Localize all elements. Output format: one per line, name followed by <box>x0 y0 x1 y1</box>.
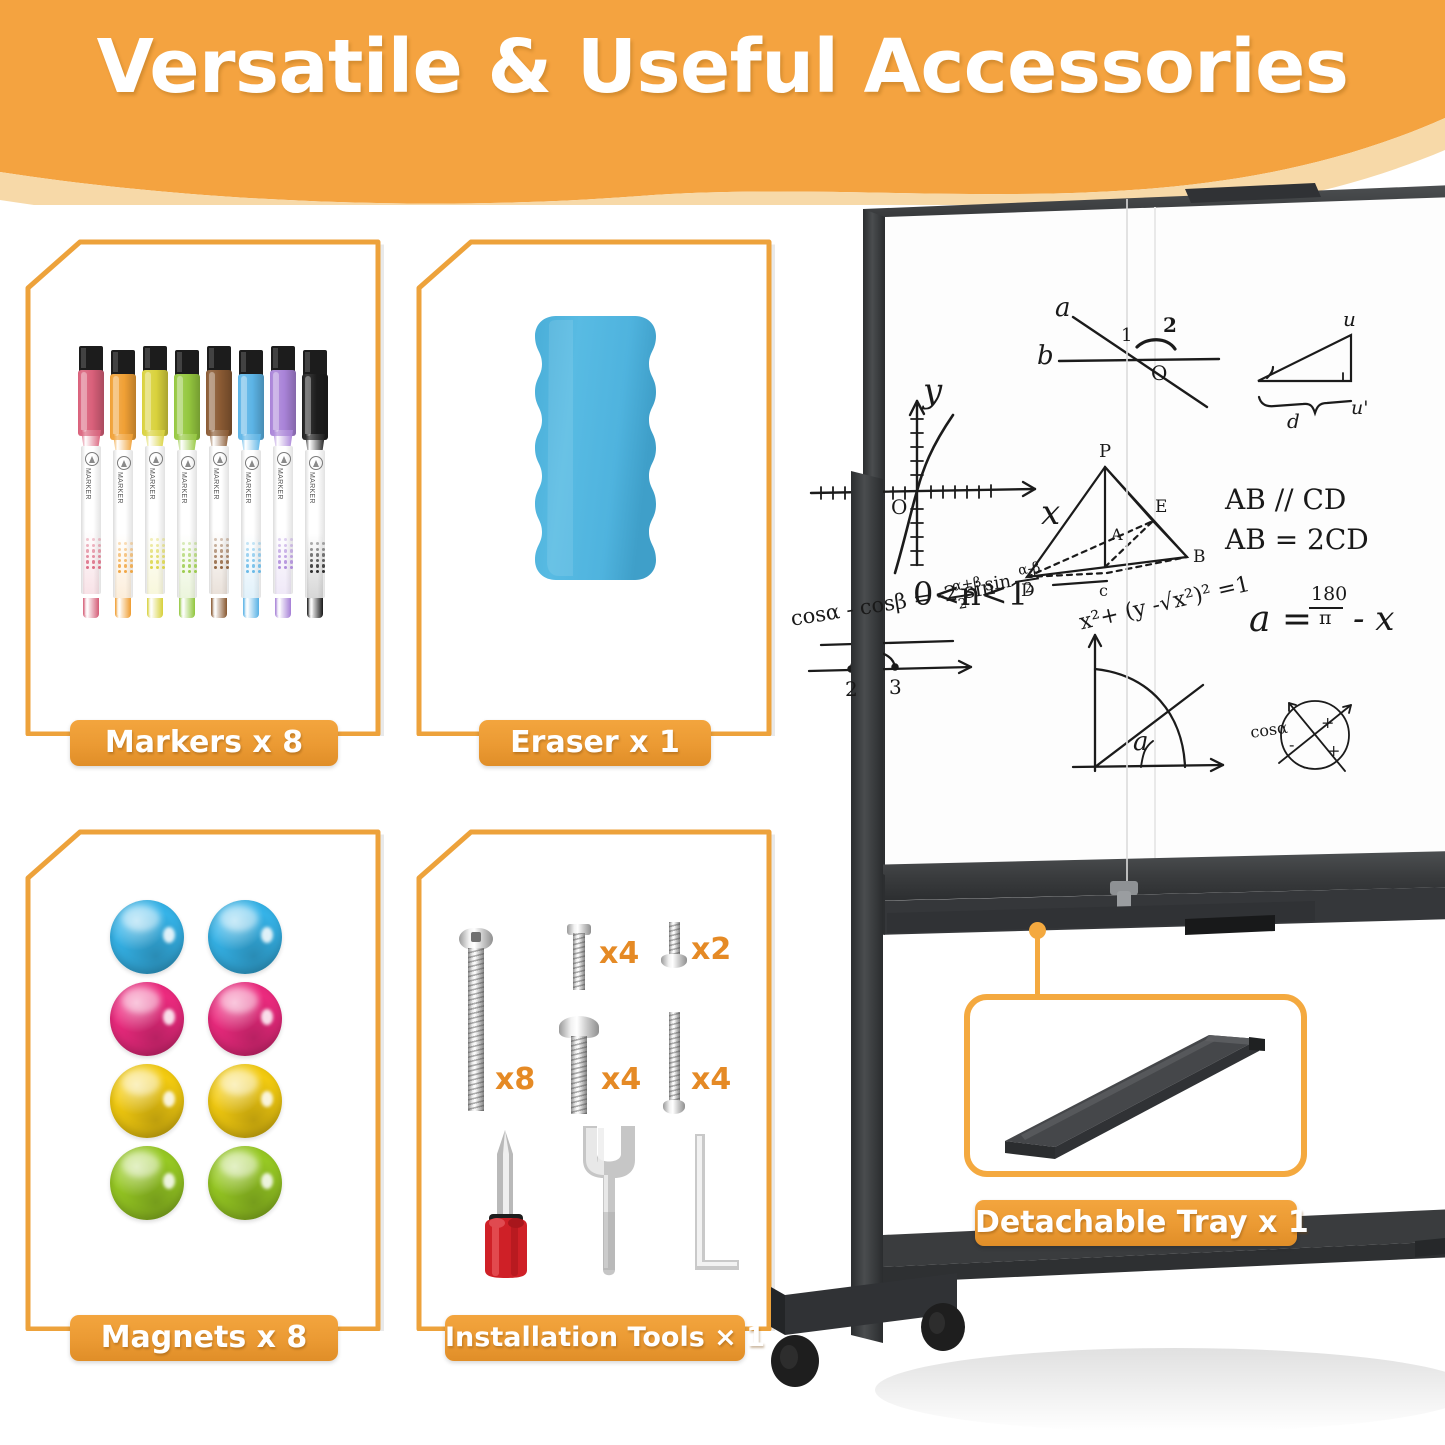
label-eraser: Eraser x 1 <box>479 720 711 766</box>
marker-cap <box>239 350 263 376</box>
marker-barrel: WHITEBOARDMARKER <box>273 446 293 594</box>
hardware-short-flat-screw <box>567 924 591 992</box>
whiteboard-product-photo: y x O 0<n<1 a b 1 2 O u u' d P E A B c D… <box>755 175 1445 1445</box>
qty-long-wood-screw: x4 <box>691 1062 731 1097</box>
marker-label-sub: MARKER <box>81 468 94 594</box>
marker-barrel: WHITEBOARDMARKER <box>81 446 101 594</box>
magnet-specular <box>163 927 175 943</box>
marker-purple: WHITEBOARDMARKER <box>270 346 296 618</box>
marker-cap <box>271 346 295 372</box>
whiteboard-illustration <box>755 175 1445 1445</box>
marker-brown: WHITEBOARDMARKER <box>206 346 232 618</box>
marker-label-sub: MARKER <box>273 468 286 594</box>
note-pyr-B: B <box>1193 547 1206 567</box>
magnet-highlight <box>122 988 160 1013</box>
marker-tip <box>179 598 195 618</box>
qty-long-hex-bolt: x8 <box>495 1062 535 1097</box>
note-numline-2: 2 <box>845 677 858 701</box>
qty-short-wood-screw: x2 <box>691 932 731 967</box>
marker-tip <box>83 598 99 618</box>
magnet-highlight <box>122 906 160 931</box>
note-numline-3: 3 <box>889 675 902 699</box>
magnet-specular <box>261 1173 273 1189</box>
note-sin-2: sin <box>983 571 1013 596</box>
magnet-blue <box>110 900 184 974</box>
note-angle-2: 2 <box>1163 313 1177 337</box>
marker-logo-icon <box>85 452 99 466</box>
marker-rose: WHITEBOARDMARKER <box>78 346 104 618</box>
marker-label-sub: MARKER <box>241 472 254 598</box>
note-tri-u: u <box>1343 307 1356 331</box>
magnet-yellow <box>208 1064 282 1138</box>
tools-image: x8 x4 x4 x2 x4 <box>423 836 767 1326</box>
marker-barrel: WHITEBOARDMARKER <box>305 450 325 598</box>
marker-tip <box>243 598 259 618</box>
note-alpha-den: π <box>1319 607 1332 629</box>
hardware-dome-head-bolt <box>559 1016 599 1116</box>
hardware-long-wood-screw <box>661 1012 687 1120</box>
marker-shoulder <box>206 370 232 436</box>
note-parallel-1: AB // CD <box>1225 483 1346 516</box>
marker-dot-pattern <box>308 542 325 576</box>
magnet-green <box>208 1146 282 1220</box>
marker-label-sub: MARKER <box>113 472 126 598</box>
marker-orange: WHITEBOARDMARKER <box>110 350 136 618</box>
magnet-specular <box>163 1173 175 1189</box>
eraser-image <box>423 246 767 730</box>
label-markers: Markers x 8 <box>70 720 338 766</box>
note-alpha-tail: - x <box>1353 599 1394 639</box>
note-line-b: b <box>1037 341 1054 371</box>
magnet-specular <box>261 1091 273 1107</box>
marker-logo-icon <box>245 456 259 470</box>
marker-cap <box>175 350 199 376</box>
marker-dot-pattern <box>180 542 197 576</box>
magnet-highlight <box>122 1070 160 1095</box>
open-end-wrench-icon <box>573 1120 645 1282</box>
note-quad-minus-2: - <box>1303 757 1308 776</box>
note-quad-minus-1: - <box>1289 735 1294 754</box>
magnet-green <box>110 1146 184 1220</box>
marker-cap <box>303 350 327 376</box>
marker-dot-pattern <box>116 542 133 576</box>
phillips-screwdriver-icon <box>465 1128 551 1280</box>
note-pyr-C: c <box>1099 581 1108 600</box>
tray-callout-frame <box>963 993 1308 1178</box>
magnet-highlight <box>220 988 258 1013</box>
callout-detachable-tray <box>963 993 1308 1178</box>
marker-cap <box>111 350 135 376</box>
note-line-a: a <box>1055 293 1071 323</box>
marker-logo-icon <box>213 452 227 466</box>
magnet-highlight <box>122 1152 160 1177</box>
marker-barrel: WHITEBOARDMARKER <box>145 446 165 594</box>
marker-shoulder <box>302 374 328 440</box>
hardware-long-hex-bolt <box>459 928 493 1113</box>
marker-logo-icon <box>181 456 195 470</box>
magnet-highlight <box>220 1152 258 1177</box>
marker-cap <box>143 346 167 372</box>
marker-green: WHITEBOARDMARKER <box>174 350 200 618</box>
note-parallel-2: AB = 2CD <box>1225 523 1369 556</box>
note-quad-plus-1: + <box>1321 713 1334 732</box>
marker-barrel: WHITEBOARDMARKER <box>113 450 133 598</box>
magnet-highlight <box>220 1070 258 1095</box>
magnet-pink <box>110 982 184 1056</box>
note-alpha-num: 180 <box>1311 583 1347 605</box>
marker-shoulder <box>142 370 168 436</box>
hardware-short-wood-screw <box>661 922 687 974</box>
marker-dot-pattern <box>84 538 101 572</box>
page-title: Versatile & Useful Accessories <box>0 24 1445 110</box>
marker-dot-pattern <box>212 538 229 572</box>
note-tri-u-prime: u' <box>1351 397 1368 419</box>
marker-shoulder <box>174 374 200 440</box>
marker-dot-pattern <box>276 538 293 572</box>
magnet-yellow <box>110 1064 184 1138</box>
note-axis-y: y <box>923 371 942 411</box>
marker-logo-icon <box>149 452 163 466</box>
note-alpha-eq: a = <box>1249 599 1312 640</box>
note-angle-1: 1 <box>1121 325 1132 346</box>
marker-logo-icon <box>277 452 291 466</box>
marker-tip <box>211 598 227 618</box>
marker-tip <box>147 598 163 618</box>
marker-barrel: WHITEBOARDMARKER <box>177 450 197 598</box>
magnet-pink <box>208 982 282 1056</box>
marker-tip <box>275 598 291 618</box>
marker-shoulder <box>78 370 104 436</box>
note-pyr-A: A <box>1111 525 1123 544</box>
note-pyr-E: E <box>1155 497 1167 517</box>
label-installation-tools: Installation Tools × 1 <box>445 1315 745 1361</box>
marker-cap <box>207 346 231 372</box>
magnet-specular <box>261 1009 273 1025</box>
panel-magnets: Magnets x 8 <box>22 826 384 1381</box>
label-detachable-tray: Detachable Tray x 1 <box>975 1200 1297 1246</box>
magnet-specular <box>163 1009 175 1025</box>
foam-eraser-shape <box>423 246 767 730</box>
qty-short-flat-screw: x4 <box>599 936 639 971</box>
marker-cap <box>79 346 103 372</box>
note-tri-d: d <box>1287 409 1300 433</box>
marker-tip <box>307 598 323 618</box>
marker-shoulder <box>110 374 136 440</box>
marker-shoulder <box>270 370 296 436</box>
markers-image: WHITEBOARDMARKERWHITEBOARDMARKERWHITEBOA… <box>32 246 376 730</box>
marker-tip <box>115 598 131 618</box>
marker-logo-icon <box>309 456 323 470</box>
label-magnets: Magnets x 8 <box>70 1315 338 1361</box>
marker-logo-icon <box>117 456 131 470</box>
marker-dot-pattern <box>244 542 261 576</box>
note-vertex-O: O <box>1151 361 1167 385</box>
marker-black: WHITEBOARDMARKER <box>302 350 328 618</box>
marker-shoulder <box>238 374 264 440</box>
magnet-specular <box>261 927 273 943</box>
magnet-specular <box>163 1091 175 1107</box>
magnets-image <box>32 836 376 1326</box>
callout-connector-line <box>1035 930 1040 998</box>
note-axis-x: x <box>1041 493 1060 533</box>
marker-dot-pattern <box>148 538 165 572</box>
marker-label-sub: MARKER <box>177 472 190 598</box>
qty-dome-head-bolt: x4 <box>601 1062 641 1097</box>
marker-label-sub: MARKER <box>305 472 318 598</box>
marker-label-sub: MARKER <box>145 468 158 594</box>
note-pyr-P: P <box>1099 441 1111 462</box>
marker-label-sub: MARKER <box>209 468 222 594</box>
marker-yellow: WHITEBOARDMARKER <box>142 346 168 618</box>
panel-installation-tools: x8 x4 x4 x2 x4 <box>413 826 775 1381</box>
note-quad-plus-2: + <box>1327 741 1340 760</box>
magnet-blue <box>208 900 282 974</box>
panel-markers: WHITEBOARDMARKERWHITEBOARDMARKERWHITEBOA… <box>22 236 384 781</box>
marker-barrel: WHITEBOARDMARKER <box>241 450 261 598</box>
allen-key-icon <box>681 1132 745 1282</box>
note-angle-alpha: a <box>1133 727 1149 757</box>
note-axis-origin: O <box>891 495 907 519</box>
panel-eraser: Eraser x 1 <box>413 236 775 781</box>
magnet-highlight <box>220 906 258 931</box>
marker-barrel: WHITEBOARDMARKER <box>209 446 229 594</box>
marker-blue: WHITEBOARDMARKER <box>238 350 264 618</box>
